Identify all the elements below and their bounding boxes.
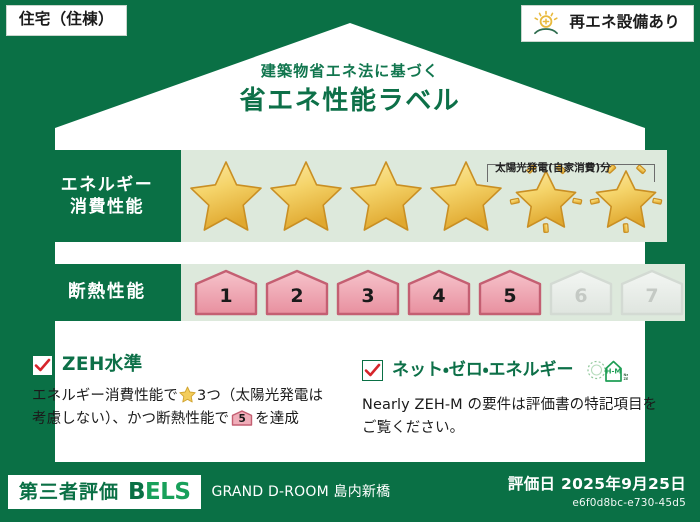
building-type-chip: 住宅（住棟）	[6, 5, 127, 36]
grade-badge-3: 3	[335, 269, 401, 317]
nze-section-title: ネット・ゼロ・エネルギー	[392, 361, 574, 380]
solar-caption: 太陽光発電(自家消費)分	[468, 160, 638, 175]
energy-performance-label: 住宅（住棟） 再エネ設備あり 建築物省エネ法に基づく 省エネ性能ラベル	[0, 0, 700, 522]
grade-badge-4: 4	[406, 269, 472, 317]
grade-badge-5: 5	[477, 269, 543, 317]
checkmark-icon	[362, 360, 383, 381]
svg-text:H-M: H-M	[605, 367, 621, 375]
grade-badge-inline-label: 5	[231, 414, 253, 425]
insulation-performance-label: 断熱性能	[33, 264, 181, 321]
grade-badge-group: 1 2 3 4	[181, 269, 685, 317]
title-subtitle: 建築物省エネ法に基づく	[0, 62, 700, 80]
zeh-body-part-1: エネルギー消費性能で	[32, 388, 178, 404]
energy-label-line-2: 消費性能	[70, 196, 144, 218]
zeh-body-part-3: を達成	[255, 411, 299, 427]
net-zero-energy-section: ネット・ゼロ・エネルギー H-M Nearly ZEH-M Nearly ZEH…	[362, 355, 670, 441]
evaluation-info: 評価日 2025年9月25日 e6f0d8bc-e730-45d5	[508, 475, 686, 509]
grade-badge-2: 2	[264, 269, 330, 317]
bels-jp-label: 第三者評価	[19, 483, 119, 502]
zeh-section-body: エネルギー消費性能で 3つ（太陽光発電は考慮しない）、かつ断熱性能で 5 を達成	[32, 385, 337, 432]
nearly-zeh-m-house-logo: H-M Nearly ZEH-M	[586, 355, 628, 385]
bels-wordmark-b: B	[128, 479, 145, 505]
label-footer: 第三者評価 BELS GRAND D-ROOM 島内新橋 評価日 2025年9月…	[0, 462, 700, 522]
grade-badge-6: 6	[548, 269, 614, 317]
renewable-chip-label: 再エネ設備あり	[569, 14, 680, 32]
nze-section-header: ネット・ゼロ・エネルギー H-M Nearly ZEH-M	[362, 355, 670, 385]
energy-performance-label: エネルギー 消費性能	[33, 150, 181, 242]
solar-bracket: 太陽光発電(自家消費)分	[487, 164, 655, 182]
checkmark-icon	[32, 355, 53, 376]
grade-badge-inline: 5	[231, 410, 253, 426]
bels-wordmark: BELS	[128, 481, 190, 504]
star-icon	[347, 155, 425, 237]
energy-label-line-1: エネルギー	[61, 174, 154, 196]
bels-badge: 第三者評価 BELS	[8, 475, 201, 509]
zeh-section-title: ZEH水準	[62, 355, 143, 375]
star-icon	[179, 386, 196, 403]
star-icon	[187, 155, 265, 237]
svg-text:ZEH-M: ZEH-M	[623, 377, 628, 381]
grade-badge-7: 7	[619, 269, 685, 317]
label-title-block: 建築物省エネ法に基づく 省エネ性能ラベル	[0, 62, 700, 117]
bels-wordmark-els: ELS	[145, 479, 190, 505]
evaluation-date: 評価日 2025年9月25日	[508, 475, 686, 494]
title-main: 省エネ性能ラベル	[0, 87, 700, 117]
nze-section-body: Nearly ZEH-M の要件は評価書の特記項目をご覧ください。	[362, 394, 670, 441]
project-name: GRAND D-ROOM 島内新橋	[211, 484, 390, 501]
insulation-grades-panel: 1 2 3 4	[181, 264, 685, 321]
zeh-standard-section: ZEH水準 エネルギー消費性能で 3つ（太陽光発電は考慮しない）、かつ断熱性能で…	[32, 355, 337, 432]
star-icon	[267, 155, 345, 237]
renewable-equipment-chip: 再エネ設備あり	[521, 5, 694, 42]
grade-badge-1: 1	[193, 269, 259, 317]
sun-icon	[531, 10, 561, 36]
evaluation-id: e6f0d8bc-e730-45d5	[508, 497, 686, 510]
energy-stars-panel: 太陽光発電(自家消費)分	[181, 150, 667, 242]
insulation-performance-row: 断熱性能	[33, 264, 667, 321]
zeh-section-header: ZEH水準	[32, 355, 337, 376]
energy-performance-row: エネルギー 消費性能	[33, 150, 667, 242]
